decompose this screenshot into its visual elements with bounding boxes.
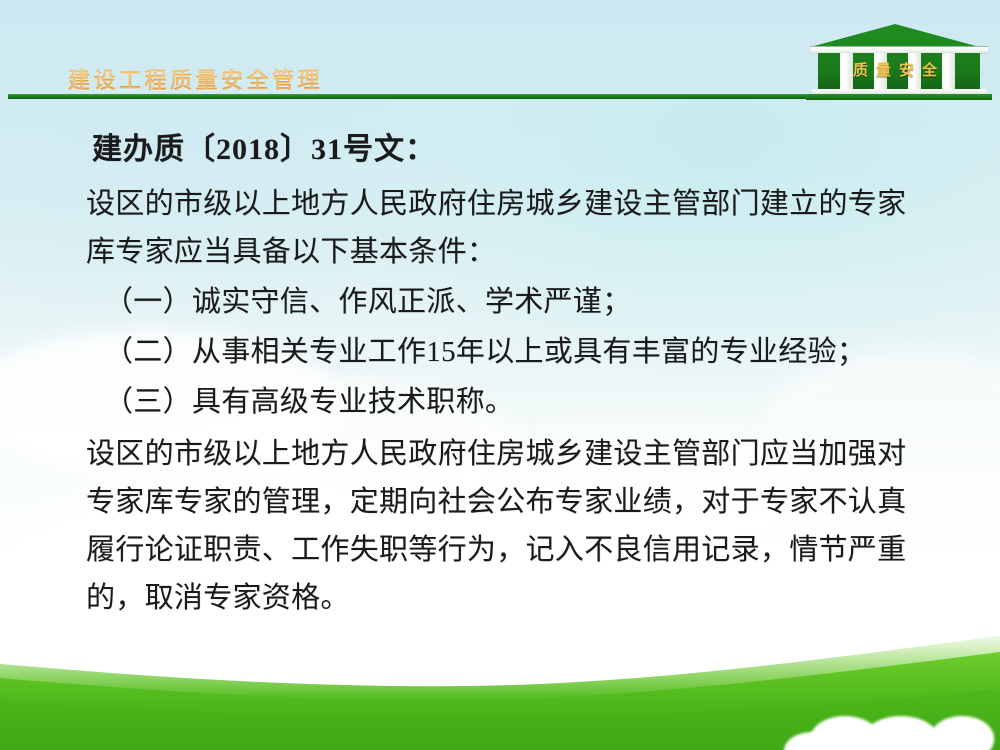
pediment-roof-icon xyxy=(814,24,976,46)
condition-item-2: （二）从事相关专业工作15年以上或具有丰富的专业经验； xyxy=(86,328,926,376)
condition-item-3: （三）具有高级专业技术职称。 xyxy=(86,378,926,426)
condition-item-1: （一）诚实守信、作风正派、学术严谨； xyxy=(86,278,926,326)
hill-cloud-shape xyxy=(930,716,994,750)
temple-base-lower-icon xyxy=(806,94,992,100)
logo-text: 质量安全 xyxy=(820,59,978,80)
closing-paragraph: 设区的市级以上地方人民政府住房城乡建设主管部门应当加强对专家库专家的管理，定期向… xyxy=(86,430,926,622)
lead-paragraph: 设区的市级以上地方人民政府住房城乡建设主管部门建立的专家库专家应当具备以下基本条… xyxy=(86,180,926,276)
document-number-title: 建办质〔2018〕31号文： xyxy=(92,128,926,172)
hill-cloud-shape xyxy=(862,716,940,750)
slide-canvas: 建设工程质量安全管理 质量安全 建办质〔2018〕31号文： 设区的市级以上地方… xyxy=(0,0,1000,750)
quality-safety-temple-logo: 质量安全 xyxy=(806,24,992,100)
hill-cloud-group xyxy=(740,690,1000,750)
slide-content: 建办质〔2018〕31号文： 设区的市级以上地方人民政府住房城乡建设主管部门建立… xyxy=(86,128,926,622)
grass-hill-illustration xyxy=(0,630,1000,750)
header-title: 建设工程质量安全管理 xyxy=(68,63,323,95)
